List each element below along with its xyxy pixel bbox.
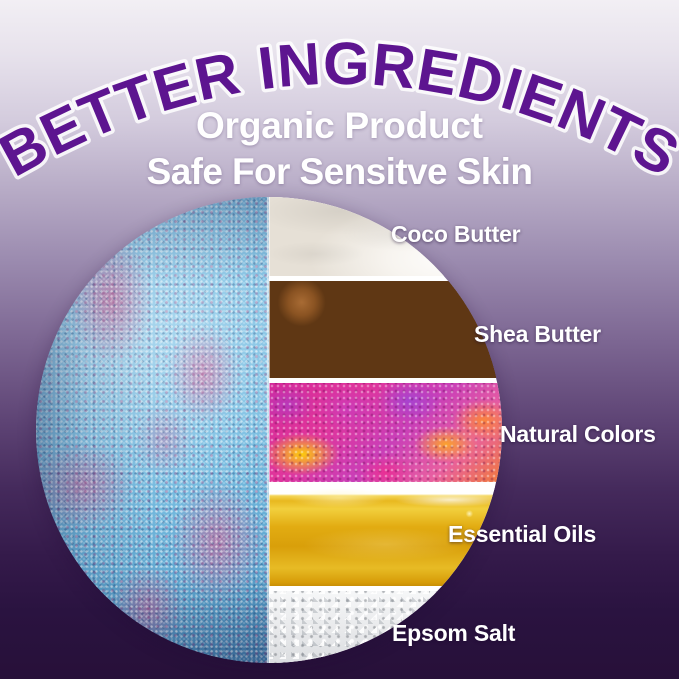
bath-bomb-half <box>36 197 269 663</box>
label-essential-oils: Essential Oils <box>448 521 596 548</box>
label-coco-butter: Coco Butter <box>391 221 520 248</box>
product-circle <box>36 197 502 663</box>
strip-natural-colors <box>269 383 502 482</box>
ingredients-poster: BETTER INGREDIENTS BETTER INGREDIENTS Or… <box>0 0 679 679</box>
label-epsom-salt: Epsom Salt <box>392 620 515 647</box>
strip-shea-butter <box>269 281 502 378</box>
label-natural-colors: Natural Colors <box>500 421 656 448</box>
ingredient-strip-stack <box>269 197 502 663</box>
subtitle-line-2: Safe For Sensitve Skin <box>0 149 679 195</box>
subtitle-block: Organic Product Safe For Sensitve Skin <box>0 103 679 195</box>
half-divider <box>267 197 270 663</box>
label-shea-butter: Shea Butter <box>474 321 601 348</box>
subtitle-line-1: Organic Product <box>0 103 679 149</box>
